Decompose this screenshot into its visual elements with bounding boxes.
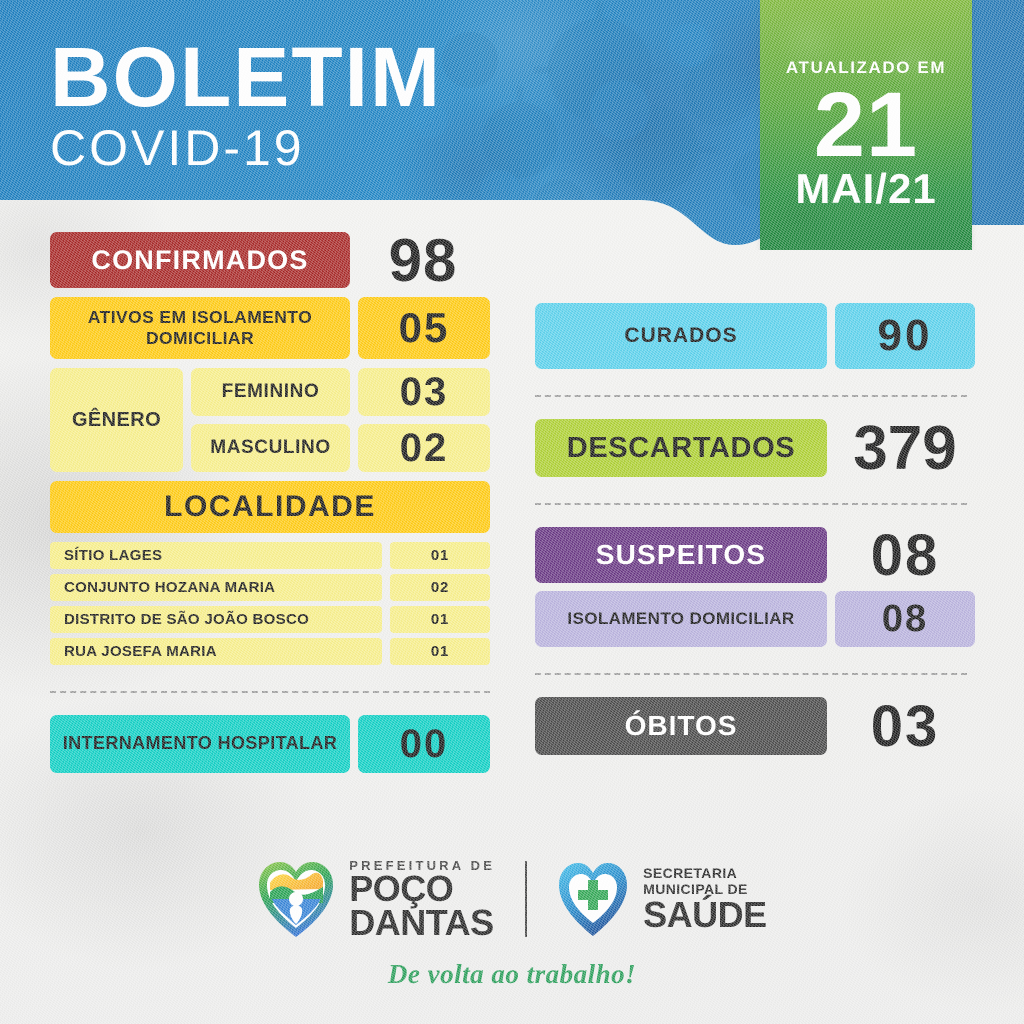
ativos-isolamento-label: ATIVOS EM ISOLAMENTO DOMICILIAR [50,297,350,359]
localidade-header: LOCALIDADE [50,481,490,533]
genero-row-masculino: MASCULINO 02 [191,424,490,472]
confirmados-value: 98 [358,232,488,288]
localidade-value: 01 [390,606,490,633]
localidade-name: SÍTIO LAGES [50,542,382,569]
localidade-value: 02 [390,574,490,601]
curados-row: CURADOS 90 [535,303,975,369]
genero-subrows: FEMININO 03 MASCULINO 02 [191,368,490,472]
date-badge-day: 21 [814,80,918,170]
isolamento-domiciliar-value: 08 [835,591,975,647]
ativos-isolamento-value: 05 [358,297,490,359]
secretaria-small-line1: SECRETARIA [643,866,767,882]
genero-masculino-label: MASCULINO [191,424,350,472]
table-row: RUA JOSEFA MARIA 01 [50,638,490,665]
right-divider-3 [535,673,967,675]
page-title: BOLETIM [50,38,442,118]
left-column: CONFIRMADOS 98 ATIVOS EM ISOLAMENTO DOMI… [50,232,490,773]
genero-label: GÊNERO [50,368,183,472]
right-divider-1 [535,395,967,397]
date-badge: ATUALIZADO EM 21 MAI/21 [760,0,972,250]
localidade-name: CONJUNTO HOZANA MARIA [50,574,382,601]
title-block: BOLETIM COVID-19 [50,38,442,174]
secretaria-big-label: SAÚDE [643,898,767,932]
secretaria-logo: SECRETARIA MUNICIPAL DE SAÚDE [557,860,767,938]
secretaria-heart-cross-icon [557,860,629,938]
header: BOLETIM COVID-19 ATUALIZADO EM 21 MAI/21 [0,0,1024,250]
localidade-name: RUA JOSEFA MARIA [50,638,382,665]
localidade-value: 01 [390,638,490,665]
secretaria-logo-text: SECRETARIA MUNICIPAL DE SAÚDE [643,866,767,932]
internamento-row: INTERNAMENTO HOSPITALAR 00 [50,715,490,773]
obitos-value: 03 [835,697,975,755]
obitos-row: ÓBITOS 03 [535,697,975,755]
tagline: De volta ao trabalho! [0,959,1024,990]
table-row: CONJUNTO HOZANA MARIA 02 [50,574,490,601]
logo-group: PREFEITURA DE POÇO DANTAS [0,845,1024,953]
curados-label: CURADOS [535,303,827,369]
localidade-name: DISTRITO DE SÃO JOÃO BOSCO [50,606,382,633]
footer: PREFEITURA DE POÇO DANTAS [0,845,1024,1024]
date-badge-month: MAI/21 [795,168,936,210]
descartados-value: 379 [835,419,975,477]
logo-divider [525,861,527,937]
genero-block: GÊNERO FEMININO 03 MASCULINO 02 [50,368,490,472]
right-divider-2 [535,503,967,505]
isolamento-domiciliar-label: ISOLAMENTO DOMICILIAR [535,591,827,647]
suspeitos-value: 08 [835,527,975,583]
curados-value: 90 [835,303,975,369]
descartados-row: DESCARTADOS 379 [535,419,975,477]
internamento-label: INTERNAMENTO HOSPITALAR [50,715,350,773]
genero-feminino-label: FEMININO [191,368,350,416]
suspeitos-row: SUSPEITOS 08 [535,527,975,583]
suspeitos-label: SUSPEITOS [535,527,827,583]
right-column: CURADOS 90 DESCARTADOS 379 SUSPEITOS 08 … [535,303,975,755]
confirmados-row: CONFIRMADOS 98 [50,232,490,288]
genero-row-feminino: FEMININO 03 [191,368,490,416]
internamento-value: 00 [358,715,490,773]
localidade-value: 01 [390,542,490,569]
prefeitura-heart-icon [257,859,335,939]
left-divider [50,691,490,693]
prefeitura-logo-text: PREFEITURA DE POÇO DANTAS [349,859,495,938]
obitos-label: ÓBITOS [535,697,827,755]
confirmados-label: CONFIRMADOS [50,232,350,288]
table-row: DISTRITO DE SÃO JOÃO BOSCO 01 [50,606,490,633]
genero-feminino-value: 03 [358,368,490,416]
prefeitura-logo: PREFEITURA DE POÇO DANTAS [257,859,495,939]
prefeitura-name-line1: POÇO [349,872,495,905]
covid-bulletin-poster: BOLETIM COVID-19 ATUALIZADO EM 21 MAI/21… [0,0,1024,1024]
prefeitura-name-line2: DANTAS [349,906,495,939]
page-subtitle: COVID-19 [50,122,442,175]
isolamento-domiciliar-row: ISOLAMENTO DOMICILIAR 08 [535,591,975,647]
genero-masculino-value: 02 [358,424,490,472]
table-row: SÍTIO LAGES 01 [50,542,490,569]
ativos-isolamento-row: ATIVOS EM ISOLAMENTO DOMICILIAR 05 [50,297,490,359]
descartados-label: DESCARTADOS [535,419,827,477]
